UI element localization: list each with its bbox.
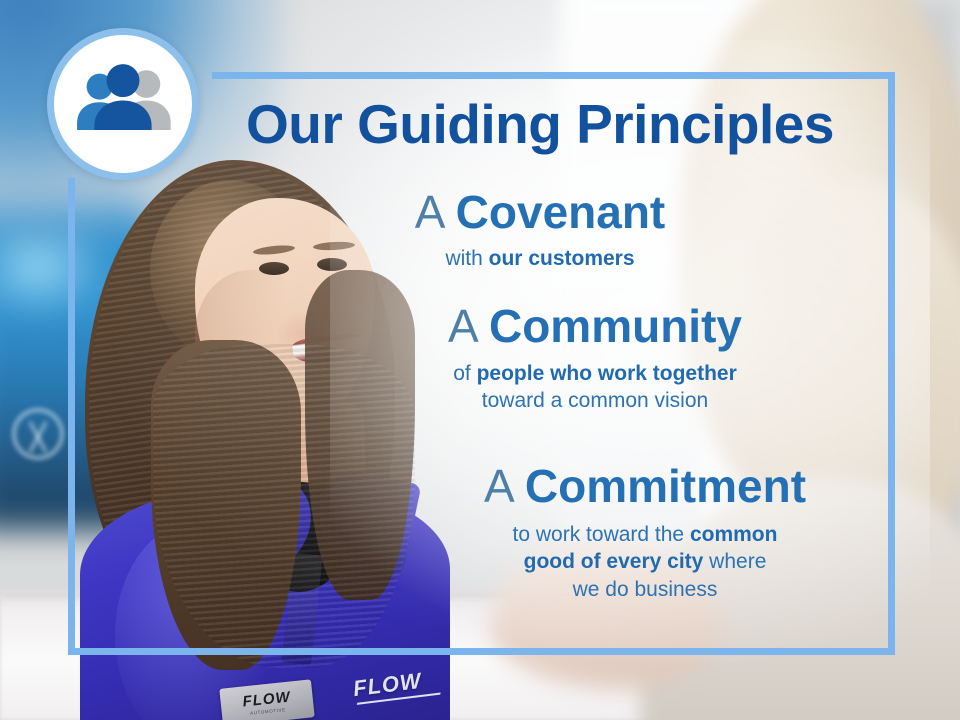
principle-community: A Community of people who work together … xyxy=(360,302,830,415)
sub-span: toward a common vision xyxy=(482,389,708,412)
sub-span: where xyxy=(703,550,766,573)
principle-covenant: A Covenant with our customers xyxy=(330,188,750,272)
principle-keyword: Commitment xyxy=(525,460,806,512)
sub-span-bold: good of every city xyxy=(524,550,704,573)
principle-keyword: Community xyxy=(489,300,742,352)
sub-span-bold: common xyxy=(690,523,778,546)
principle-heading-commitment: A Commitment xyxy=(420,462,870,511)
principle-sub-commitment: to work toward the common good of every … xyxy=(420,521,870,604)
page-title: Our Guiding Principles xyxy=(215,96,865,154)
sub-span: to work toward the xyxy=(513,523,690,546)
principle-article: A xyxy=(448,300,489,352)
sub-span: with xyxy=(445,247,488,270)
principle-heading-covenant: A Covenant xyxy=(330,188,750,237)
text-content: Our Guiding Principles A Covenant with o… xyxy=(0,0,960,720)
sub-span-bold: people who work together xyxy=(477,362,737,385)
principle-sub-community: of people who work together toward a com… xyxy=(360,360,830,415)
sub-line: good of every city where xyxy=(420,548,870,576)
principle-commitment: A Commitment to work toward the common g… xyxy=(420,462,870,604)
sub-line: toward a common vision xyxy=(360,387,830,415)
principle-article: A xyxy=(484,460,525,512)
principle-heading-community: A Community xyxy=(360,302,830,351)
principle-keyword: Covenant xyxy=(456,186,666,238)
sub-line: to work toward the common xyxy=(420,521,870,549)
principle-article: A xyxy=(415,186,456,238)
sub-line: with our customers xyxy=(330,245,750,273)
sub-span-bold: our customers xyxy=(489,247,635,270)
sub-line: we do business xyxy=(420,576,870,604)
principle-sub-covenant: with our customers xyxy=(330,245,750,273)
sub-span: of xyxy=(453,362,476,385)
sub-line: of people who work together xyxy=(360,360,830,388)
graphic-canvas: FLOW AUTOMOTIVE FLOW xyxy=(0,0,960,720)
sub-span: we do business xyxy=(573,578,718,601)
